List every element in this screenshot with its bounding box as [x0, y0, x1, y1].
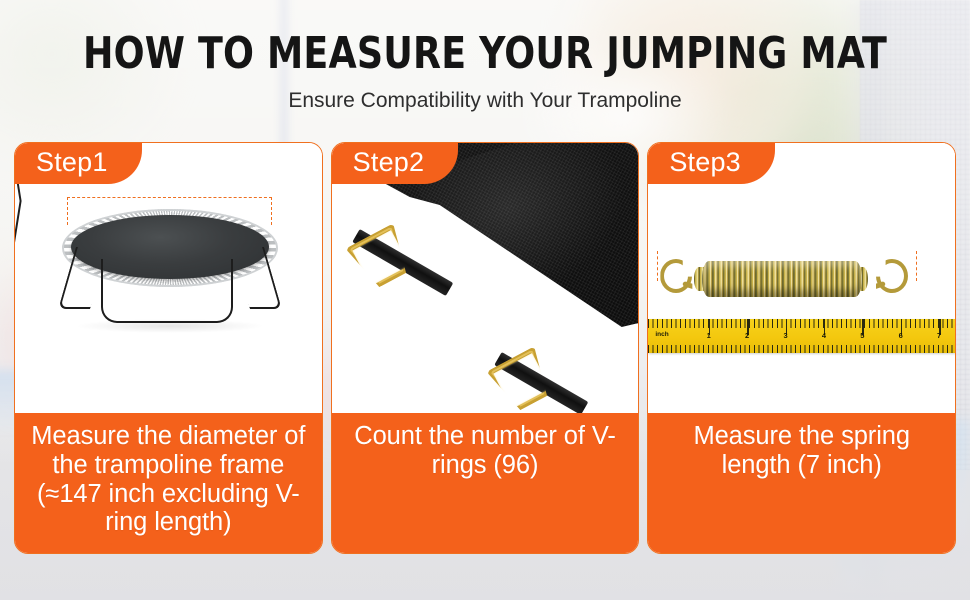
header: HOW TO MEASURE YOUR JUMPING MAT Ensure C…: [0, 0, 970, 111]
step-badge-1: Step1: [14, 142, 142, 184]
page-title: HOW TO MEASURE YOUR JUMPING MAT: [39, 0, 931, 76]
step-caption-3: Measure the spring length (7 inch): [648, 413, 955, 553]
step-caption-text-2: Count the number of V-rings (96): [342, 422, 629, 480]
page-subtitle: Ensure Compatibility with Your Trampolin…: [0, 76, 970, 111]
v-ring-lower-icon: [486, 346, 557, 413]
steps-container: Step1 Measure the diameter of the trampo…: [14, 142, 956, 554]
step-caption-1: Measure the diameter of the trampoline f…: [15, 413, 322, 553]
ruler-number: 2: [745, 331, 749, 340]
step-caption-text-3: Measure the spring length (7 inch): [658, 422, 945, 480]
ruler-bottom-ticks: [648, 345, 955, 353]
inch-ruler: inch 1234567: [648, 319, 955, 353]
step-card-1[interactable]: Step1 Measure the diameter of the trampo…: [14, 142, 323, 554]
step-badge-2: Step2: [331, 142, 459, 184]
step-badge-3: Step3: [647, 142, 775, 184]
ruler-number: 1: [707, 331, 711, 340]
ruler-unit-label: inch: [655, 331, 668, 338]
spring-hook-left-icon: [660, 259, 692, 293]
ruler-number: 7: [937, 331, 941, 340]
ruler-number: 6: [899, 331, 903, 340]
spring-hook-right-icon: [876, 259, 908, 293]
step-card-2[interactable]: Step2 Count the number of V-rings (96): [331, 142, 640, 554]
spring-measure-tick-right: [916, 251, 917, 281]
step-card-3[interactable]: Step3 inch 1234567 Measure the spring le…: [647, 142, 956, 554]
spring-measure-tick-left: [657, 251, 658, 281]
step-caption-text-1: Measure the diameter of the trampoline f…: [25, 422, 312, 537]
trampoline-shadow: [75, 319, 265, 333]
trampoline-leg-right-inner: [15, 201, 22, 259]
step-caption-2: Count the number of V-rings (96): [332, 413, 639, 553]
spring-coil-body: [702, 261, 862, 297]
ruler-number: 3: [783, 331, 787, 340]
trampoline-leg-center: [101, 259, 233, 323]
ruler-number: 4: [822, 331, 826, 340]
ruler-number: 5: [860, 331, 864, 340]
ruler-top-ticks: [648, 319, 955, 328]
